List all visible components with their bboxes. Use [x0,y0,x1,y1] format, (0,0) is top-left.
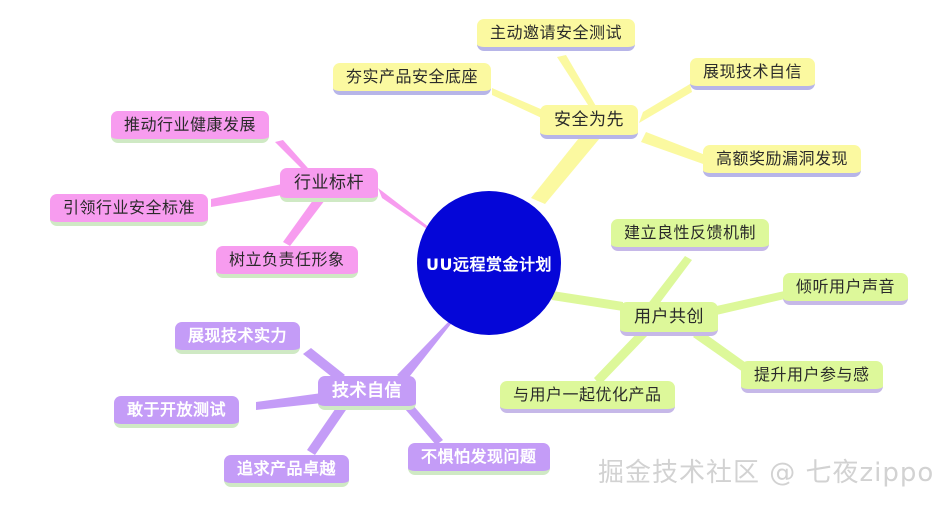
leaf-node-lead-security-standard[interactable]: 引领行业安全标准 [50,194,208,226]
branch-node-tech-confidence[interactable]: 技术自信 [318,376,416,410]
leaf-node-responsible-image[interactable]: 树立负责任形象 [216,246,358,278]
leaf-node-show-tech-confidence[interactable]: 展现技术自信 [690,58,815,90]
connector-center-security [531,128,605,204]
leaf-node-raise-user-participation[interactable]: 提升用户参与感 [741,361,883,393]
leaf-node-promote-healthy-industry[interactable]: 推动行业健康发展 [111,111,269,143]
leaf-node-dare-open-testing[interactable]: 敢于开放测试 [114,396,239,428]
watermark-text: 掘金技术社区 @ 七夜zippoe [598,452,935,489]
center-node[interactable]: UU远程赏金计划 [417,191,561,335]
connector-security-bounty [641,132,708,165]
leaf-node-not-afraid-find-issues[interactable]: 不惧怕发现问题 [408,443,550,475]
branch-node-user-cocreation[interactable]: 用户共创 [620,302,718,336]
connector-techconf-open [256,393,322,410]
connector-security-foundation [492,88,546,120]
connector-center-cocreation [546,290,623,311]
mindmap-canvas: UU远程赏金计划 安全为先 主动邀请安全测试 夯实产品安全底座 展现技术自信 高… [0,0,935,505]
connector-industry-standard [211,184,282,207]
leaf-node-pursue-product-excellence[interactable]: 追求产品卓越 [224,455,349,487]
leaf-node-listen-user-voice[interactable]: 倾听用户声音 [783,273,908,305]
leaf-node-optimize-with-users[interactable]: 与用户一起优化产品 [500,381,675,413]
connector-industry-image [283,196,325,246]
leaf-node-build-feedback-mechanism[interactable]: 建立良性反馈机制 [611,219,769,251]
connector-security-showcase [639,84,692,123]
leaf-node-high-bounty-reward[interactable]: 高额奖励漏洞发现 [703,145,861,177]
branch-node-security[interactable]: 安全为先 [540,105,638,139]
leaf-node-show-tech-strength[interactable]: 展现技术实力 [175,322,300,354]
connector-cocreation-feedback [647,256,692,308]
leaf-node-invite-security-test[interactable]: 主动邀请安全测试 [477,19,635,51]
leaf-node-solid-product-security[interactable]: 夯实产品安全底座 [333,63,491,95]
connector-cocreation-optimize [594,331,647,385]
branch-node-industry-benchmark[interactable]: 行业标杆 [280,168,378,202]
connector-cocreation-listen [712,290,789,316]
